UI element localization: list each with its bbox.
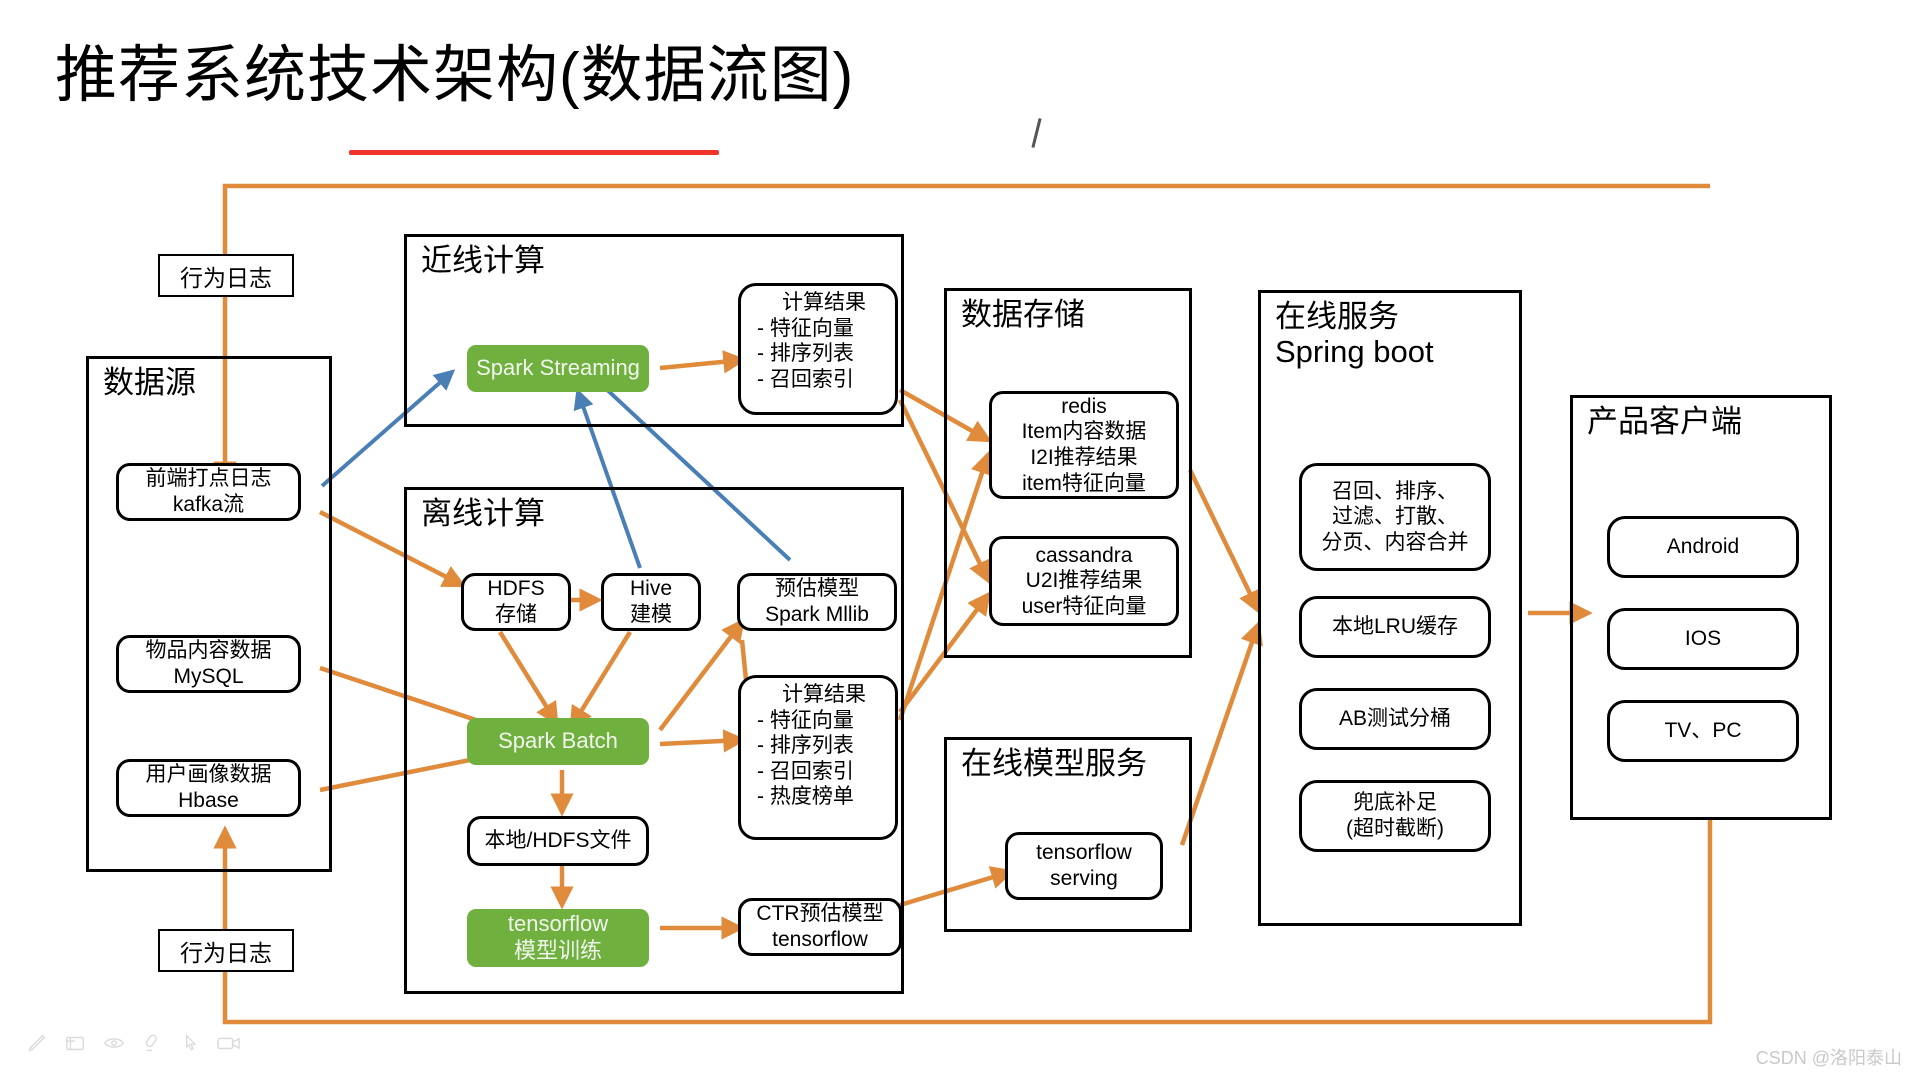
group-online-model-service: 在线模型服务 tensorflow serving: [944, 737, 1192, 932]
node-fallback-supplement-line2: (超时截断): [1346, 816, 1444, 842]
pen-stroke-annotation: [1031, 118, 1041, 148]
node-ctr-prediction-model-line2: tensorflow: [772, 927, 868, 953]
pen-icon[interactable]: [26, 1032, 48, 1054]
behavior-log-bottom-box: 行为日志: [158, 929, 294, 972]
node-prediction-model-line2: Spark Mllib: [765, 602, 869, 628]
node-hive-modeling-line2: 建模: [630, 602, 672, 628]
group-data-source: 数据源 前端打点日志 kafka流 物品内容数据 MySQL 用户画像数据 Hb…: [86, 356, 332, 872]
node-tensorflow-serving[interactable]: tensorflow serving: [1005, 832, 1163, 900]
node-redis[interactable]: redis Item内容数据 I2I推荐结果 item特征向量: [989, 391, 1179, 499]
node-tensorflow-training-line2: 模型训练: [514, 938, 602, 965]
annotation-toolbar[interactable]: [26, 1032, 242, 1054]
node-client-android[interactable]: Android: [1607, 516, 1799, 578]
node-spark-streaming-label: Spark Streaming: [476, 355, 640, 382]
node-local-lru-cache-label: 本地LRU缓存: [1332, 614, 1458, 640]
node-redis-line4: item特征向量: [1022, 471, 1146, 497]
node-tensorflow-serving-line2: serving: [1050, 866, 1118, 892]
node-result-nearline-header: 计算结果: [757, 290, 891, 316]
node-ab-test-bucket[interactable]: AB测试分桶: [1299, 688, 1491, 750]
node-result-nearline-item-2: - 召回索引: [757, 367, 854, 393]
node-hive-modeling[interactable]: Hive 建模: [601, 573, 701, 631]
node-item-content-data[interactable]: 物品内容数据 MySQL: [116, 635, 301, 693]
node-result-nearline[interactable]: 计算结果 - 特征向量 - 排序列表 - 召回索引: [738, 283, 898, 415]
node-fallback-supplement[interactable]: 兜底补足 (超时截断): [1299, 780, 1491, 852]
behavior-log-top-label: 行为日志: [180, 259, 272, 293]
node-prediction-model[interactable]: 预估模型 Spark Mllib: [737, 573, 897, 631]
eye-icon[interactable]: [102, 1032, 126, 1054]
node-cassandra-line3: user特征向量: [1022, 594, 1147, 620]
node-tensorflow-serving-line1: tensorflow: [1036, 840, 1132, 866]
node-hdfs-storage-line1: HDFS: [487, 576, 544, 602]
node-ab-test-bucket-label: AB测试分桶: [1339, 706, 1451, 732]
node-tensorflow-training-line1: tensorflow: [508, 911, 608, 938]
node-cassandra-line1: cassandra: [1036, 543, 1133, 569]
node-client-ios[interactable]: IOS: [1607, 608, 1799, 670]
node-ctr-prediction-model[interactable]: CTR预估模型 tensorflow: [738, 898, 902, 956]
slide-canvas: 推荐系统技术架构(数据流图): [0, 0, 1920, 1080]
node-result-nearline-item-1: - 排序列表: [757, 341, 854, 367]
node-hdfs-storage-line2: 存储: [495, 602, 537, 628]
page-title: 推荐系统技术架构(数据流图): [55, 42, 854, 110]
node-client-android-label: Android: [1667, 534, 1739, 560]
node-hive-modeling-line1: Hive: [630, 576, 672, 602]
node-client-ios-label: IOS: [1685, 626, 1721, 652]
group-online-service-title-line1: 在线服务: [1275, 299, 1434, 334]
node-prediction-model-line1: 预估模型: [775, 576, 859, 602]
node-recall-rank-pipeline-line2: 过滤、打散、: [1332, 504, 1458, 530]
node-item-content-data-line2: MySQL: [173, 664, 243, 690]
node-user-profile-data-line2: Hbase: [178, 788, 239, 814]
node-recall-rank-pipeline[interactable]: 召回、排序、 过滤、打散、 分页、内容合并: [1299, 463, 1491, 571]
node-redis-line1: redis: [1061, 394, 1107, 420]
node-spark-batch-label: Spark Batch: [498, 728, 618, 755]
title-underline-annotation: [349, 150, 719, 155]
node-result-offline-item-2: - 召回索引: [757, 759, 854, 785]
node-client-tv-pc-label: TV、PC: [1664, 718, 1741, 744]
highlighter-icon[interactable]: [142, 1032, 164, 1054]
node-fallback-supplement-line1: 兜底补足: [1353, 790, 1437, 816]
group-online-service-title-line2: Spring boot: [1275, 334, 1434, 369]
behavior-log-top-box: 行为日志: [158, 254, 294, 297]
pointer-icon[interactable]: [180, 1032, 200, 1054]
node-user-profile-data[interactable]: 用户画像数据 Hbase: [116, 759, 301, 817]
node-result-offline-item-1: - 排序列表: [757, 733, 854, 759]
node-client-tv-pc[interactable]: TV、PC: [1607, 700, 1799, 762]
group-online-service-title: 在线服务 Spring boot: [1275, 299, 1434, 370]
camera-icon[interactable]: [216, 1032, 242, 1054]
node-result-offline-header: 计算结果: [757, 682, 891, 708]
node-frontend-log-line2: kafka流: [173, 492, 244, 518]
node-ctr-prediction-model-line1: CTR预估模型: [756, 901, 883, 927]
node-frontend-log[interactable]: 前端打点日志 kafka流: [116, 463, 301, 521]
group-product-client-title: 产品客户端: [1587, 404, 1742, 441]
node-redis-line2: Item内容数据: [1022, 419, 1147, 445]
node-tensorflow-training[interactable]: tensorflow 模型训练: [467, 909, 649, 967]
node-redis-line3: I2I推荐结果: [1030, 445, 1137, 471]
node-cassandra[interactable]: cassandra U2I推荐结果 user特征向量: [989, 536, 1179, 626]
node-local-hdfs-file-label: 本地/HDFS文件: [485, 828, 632, 854]
group-online-model-service-title: 在线模型服务: [961, 746, 1147, 783]
group-product-client: 产品客户端 Android IOS TV、PC: [1570, 395, 1832, 820]
note-icon[interactable]: [64, 1032, 86, 1054]
group-data-source-title: 数据源: [103, 365, 196, 402]
node-item-content-data-line1: 物品内容数据: [146, 638, 272, 664]
node-result-nearline-item-0: - 特征向量: [757, 316, 854, 342]
node-result-offline[interactable]: 计算结果 - 特征向量 - 排序列表 - 召回索引 - 热度榜单: [738, 675, 898, 840]
node-recall-rank-pipeline-line1: 召回、排序、: [1332, 479, 1458, 505]
node-result-offline-item-3: - 热度榜单: [757, 784, 854, 810]
node-hdfs-storage[interactable]: HDFS 存储: [461, 573, 571, 631]
group-online-service: 在线服务 Spring boot 召回、排序、 过滤、打散、 分页、内容合并 本…: [1258, 290, 1522, 926]
node-result-offline-item-0: - 特征向量: [757, 708, 854, 734]
group-offline-computing-title: 离线计算: [421, 496, 545, 533]
node-local-hdfs-file[interactable]: 本地/HDFS文件: [467, 816, 649, 866]
group-nearline-computing-title: 近线计算: [421, 243, 545, 280]
node-cassandra-line2: U2I推荐结果: [1026, 568, 1143, 594]
node-spark-streaming[interactable]: Spark Streaming: [467, 345, 649, 392]
group-data-storage-title: 数据存储: [961, 297, 1085, 334]
node-local-lru-cache[interactable]: 本地LRU缓存: [1299, 596, 1491, 658]
node-user-profile-data-line1: 用户画像数据: [146, 762, 272, 788]
group-data-storage: 数据存储 redis Item内容数据 I2I推荐结果 item特征向量 cas…: [944, 288, 1192, 658]
node-spark-batch[interactable]: Spark Batch: [467, 718, 649, 765]
watermark: CSDN @洛阳泰山: [1756, 1044, 1902, 1070]
node-recall-rank-pipeline-line3: 分页、内容合并: [1322, 530, 1469, 556]
node-frontend-log-line1: 前端打点日志: [146, 466, 272, 492]
behavior-log-bottom-label: 行为日志: [180, 934, 272, 968]
